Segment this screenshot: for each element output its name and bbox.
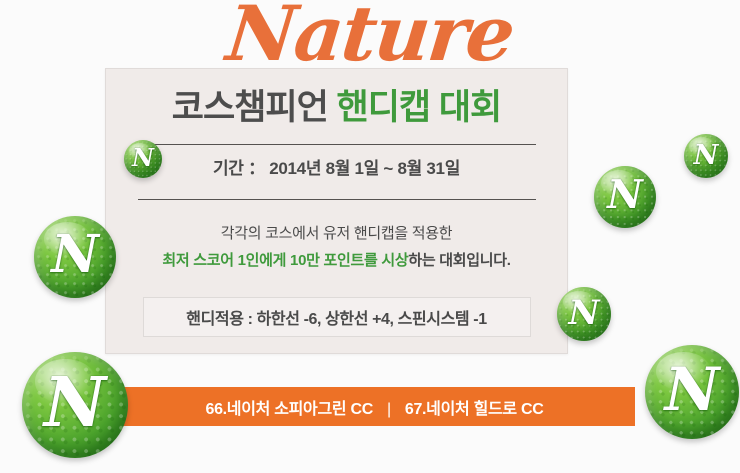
- event-description-line2: 최저 스코어 1인에게 10만 포인트를 시상하는 대회입니다.: [162, 249, 510, 272]
- event-card: 코스챔피언 핸디캡 대회 기간 ： 2014년 8월 1일 ~ 8월 31일 각…: [105, 68, 568, 354]
- course-name-right[interactable]: 67.네이처 힐드로 CC: [405, 401, 544, 418]
- page-title-primary: 코스챔피언: [172, 88, 337, 127]
- course-list-bar: 66.네이처 소피아그린 CC|67.네이처 힐드로 CC: [114, 387, 635, 426]
- golf-ball-left-largest-icon: N: [22, 352, 128, 458]
- divider-top: [138, 144, 536, 145]
- golf-ball-monogram: N: [124, 140, 162, 178]
- course-separator: |: [373, 401, 405, 419]
- handicap-rule-text: 핸디적용 : 하한선 -6, 상한선 +4, 스핀시스템 -1: [186, 305, 486, 329]
- event-description-highlight: 최저 스코어 1인에게 10만 포인트를 시상: [162, 252, 408, 269]
- event-description-tail: 하는 대회입니다.: [408, 252, 510, 269]
- golf-ball-monogram: N: [645, 345, 739, 439]
- golf-ball-right-mid-icon: N: [594, 166, 656, 228]
- event-description: 각각의 코스에서 유저 핸디캡을 적용한 최저 스코어 1인에게 10만 포인트…: [162, 222, 510, 273]
- event-card-inner: 코스챔피언 핸디캡 대회 기간 ： 2014년 8월 1일 ~ 8월 31일 각…: [106, 69, 567, 353]
- golf-ball-monogram: N: [557, 287, 611, 341]
- handicap-rule-box: 핸디적용 : 하한선 -6, 상한선 +4, 스핀시스템 -1: [143, 297, 531, 337]
- event-period: 기간 ： 2014년 8월 1일 ~ 8월 31일: [213, 154, 460, 179]
- golf-ball-right-bottom-icon: N: [645, 345, 739, 439]
- event-description-line1: 각각의 코스에서 유저 핸디캡을 적용한: [162, 222, 510, 245]
- golf-ball-left-small-icon: N: [124, 140, 162, 178]
- promo-banner: Nature 코스챔피언 핸디캡 대회 기간 ： 2014년 8월 1일 ~ 8…: [0, 0, 740, 473]
- golf-ball-monogram: N: [34, 216, 116, 298]
- golf-ball-left-large-icon: N: [34, 216, 116, 298]
- divider-bottom: [138, 199, 536, 200]
- page-title-accent: 핸디캡 대회: [337, 88, 502, 127]
- course-name-left[interactable]: 66.네이처 소피아그린 CC: [205, 401, 373, 418]
- golf-ball-monogram: N: [594, 166, 656, 228]
- golf-ball-right-small-icon: N: [684, 134, 728, 178]
- golf-ball-right-box-icon: N: [557, 287, 611, 341]
- brand-wordmark: Nature: [0, 0, 740, 72]
- golf-ball-monogram: N: [684, 134, 728, 178]
- course-list-text: 66.네이처 소피아그린 CC|67.네이처 힐드로 CC: [205, 395, 543, 419]
- golf-ball-monogram: N: [22, 352, 128, 458]
- page-title: 코스챔피언 핸디캡 대회: [172, 89, 501, 128]
